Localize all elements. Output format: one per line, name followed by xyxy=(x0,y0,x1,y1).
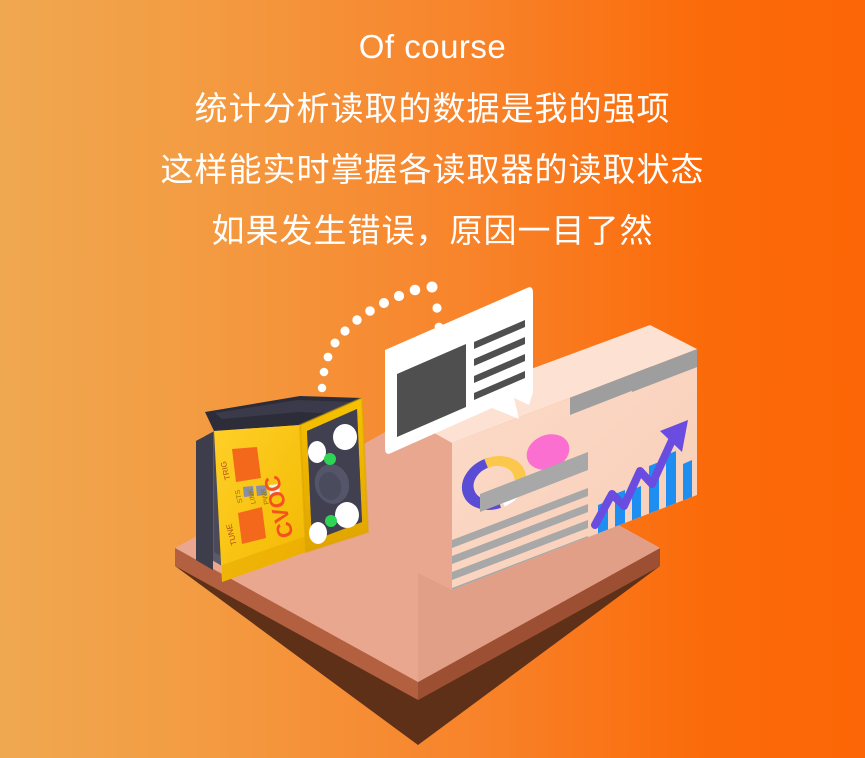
reader-lens-panel xyxy=(307,409,362,544)
isometric-illustration: TRIG TUNE STS LINK PWR CVOC xyxy=(0,0,865,758)
poster-canvas: Of course 统计分析读取的数据是我的强项 这样能实时掌握各读取器的读取状… xyxy=(0,0,865,758)
reader-led xyxy=(309,522,327,544)
reader-button-tune xyxy=(238,507,266,544)
reader-status-indicator xyxy=(324,453,336,465)
trail-dot xyxy=(318,384,326,392)
trail-dot xyxy=(394,291,404,301)
trail-dot xyxy=(432,303,441,312)
trail-dot xyxy=(427,282,438,293)
trail-dot xyxy=(340,326,349,335)
reader-status-indicator xyxy=(325,515,337,527)
trail-dot xyxy=(320,368,329,377)
reader-button-trig xyxy=(232,447,261,482)
trail-dot xyxy=(352,315,361,324)
trail-dot xyxy=(365,306,375,316)
trail-dot xyxy=(435,323,444,332)
trail-dot xyxy=(379,298,389,308)
reader-led xyxy=(308,441,326,463)
bar xyxy=(683,460,692,522)
trail-dot xyxy=(331,339,340,348)
reader-led xyxy=(335,502,359,528)
trail-dot xyxy=(324,353,333,362)
reader-led xyxy=(333,424,357,450)
trail-dot xyxy=(410,285,421,296)
bar xyxy=(666,451,676,530)
